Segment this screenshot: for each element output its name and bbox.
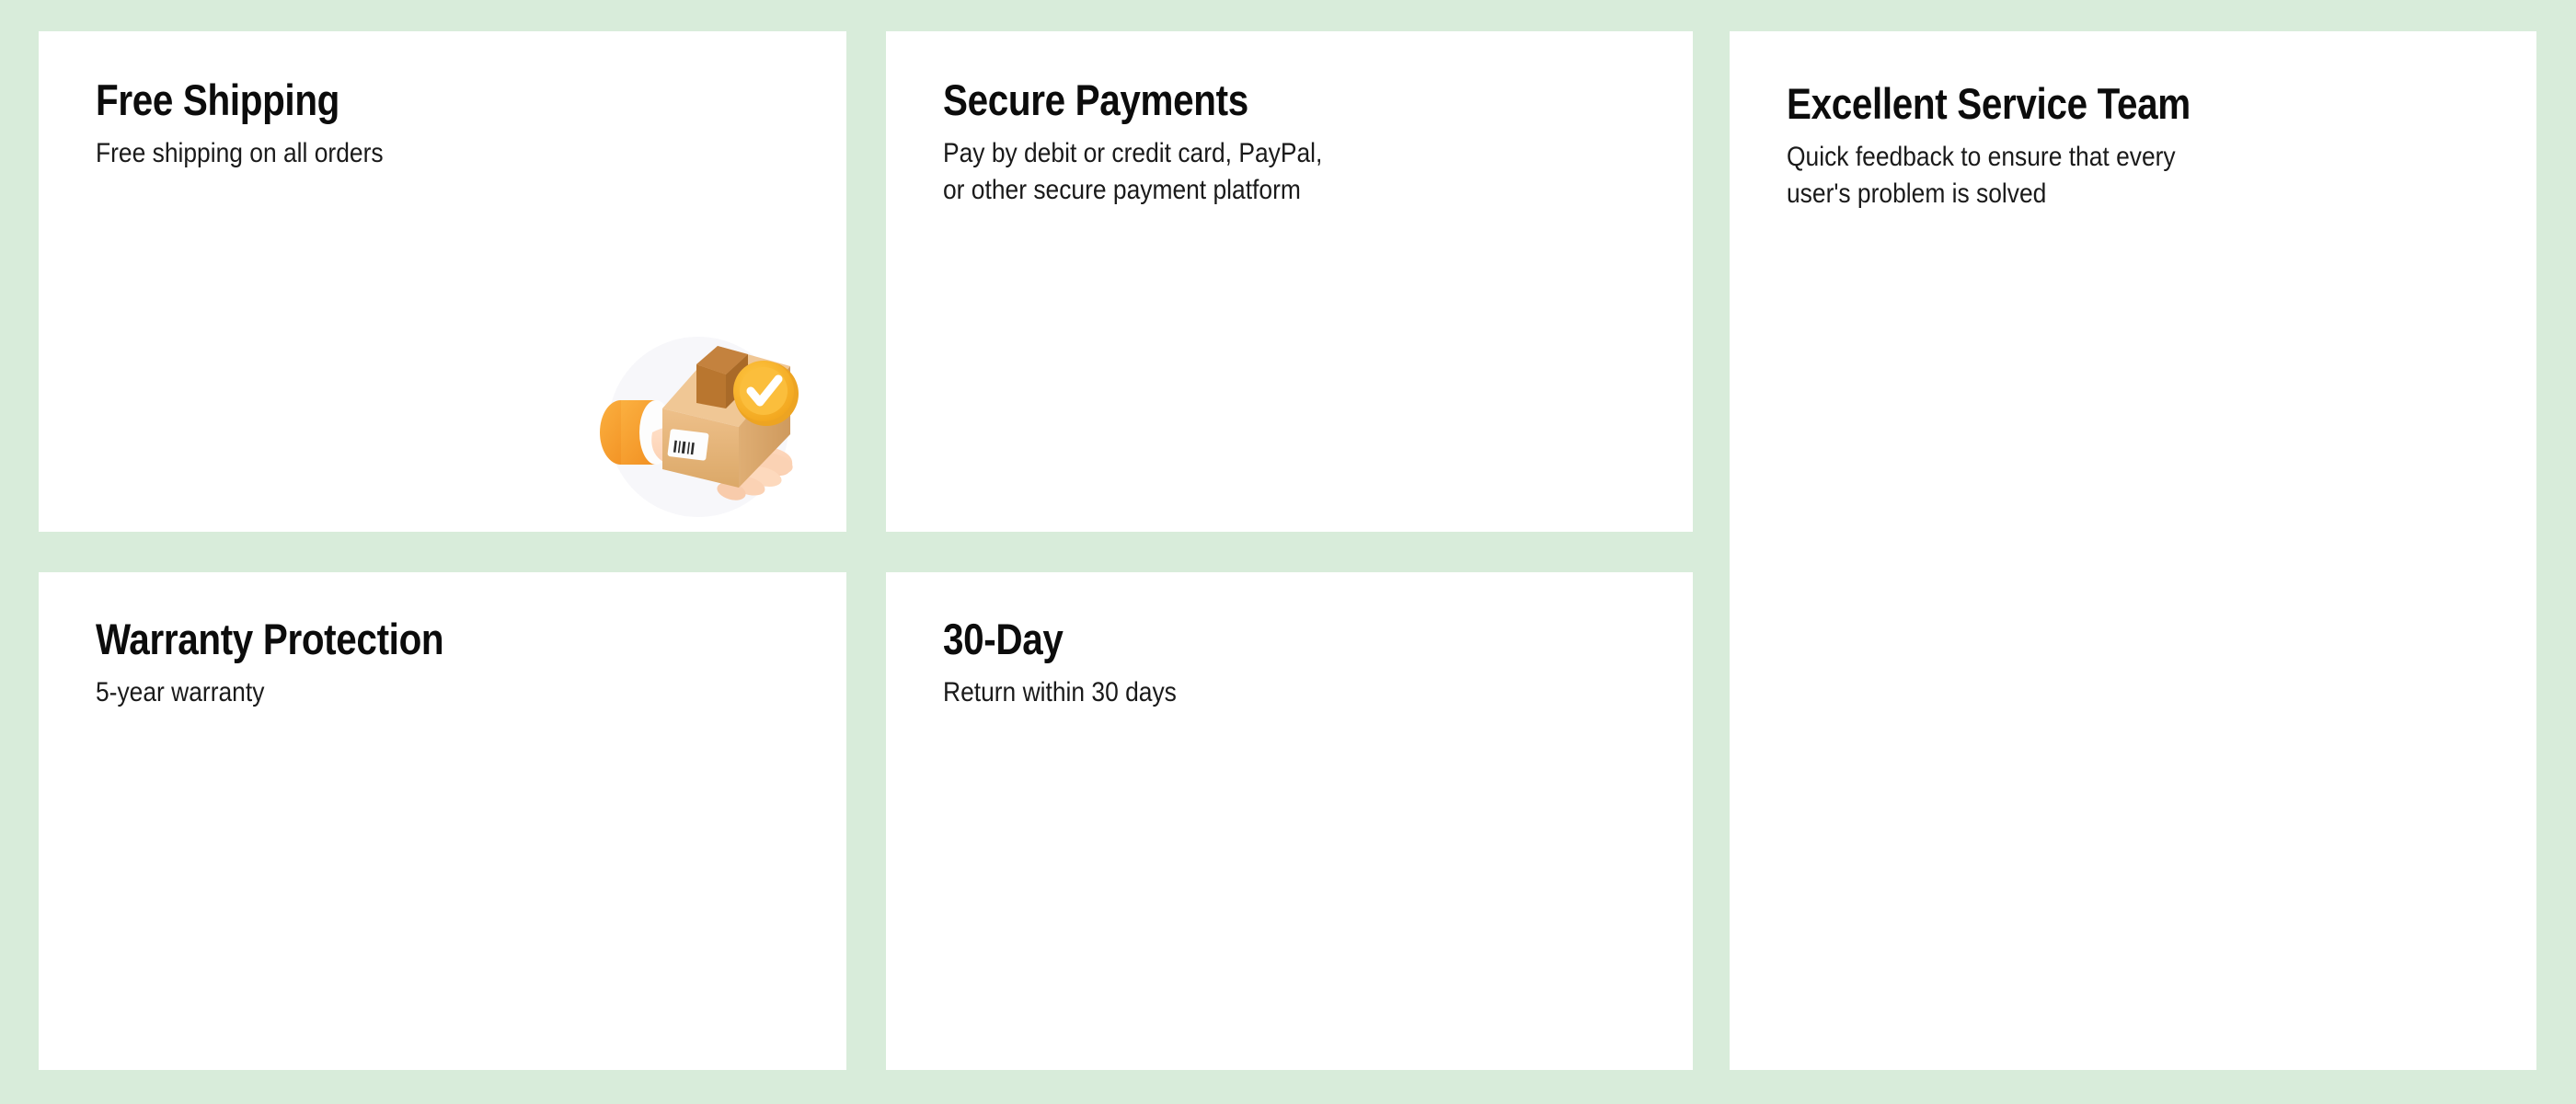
warranty-title: Warranty Protection <box>96 616 718 663</box>
features-board: Free Shipping Free shipping on all order… <box>0 0 2576 1104</box>
feature-card-warranty-protection[interactable]: Warranty Protection 5-year warranty <box>39 572 846 1070</box>
feature-card-secure-payments[interactable]: Secure Payments Pay by debit or credit c… <box>886 31 1693 532</box>
service-team-title: Excellent Service Team <box>1787 81 2408 128</box>
secure-payments-title: Secure Payments <box>943 77 1564 124</box>
package-in-hand-icon <box>568 324 830 532</box>
warranty-subtitle: 5-year warranty <box>96 674 732 711</box>
free-shipping-subtitle: Free shipping on all orders <box>96 135 732 172</box>
feature-card-thirty-day[interactable]: 30-Day Return within 30 days <box>886 572 1693 1070</box>
service-team-subtitle: Quick feedback to ensure that every user… <box>1787 139 2422 213</box>
secure-payments-subtitle: Pay by debit or credit card, PayPal, or … <box>943 135 1579 209</box>
feature-card-service-team[interactable]: Excellent Service Team Quick feedback to… <box>1730 31 2536 1070</box>
secure-payments-text-block: Secure Payments Pay by debit or credit c… <box>943 77 1665 209</box>
thirty-day-title: 30-Day <box>943 616 1564 663</box>
service-team-text-block: Excellent Service Team Quick feedback to… <box>1787 81 2509 213</box>
thirty-day-text-block: 30-Day Return within 30 days <box>943 616 1665 711</box>
free-shipping-title: Free Shipping <box>96 77 718 124</box>
free-shipping-text-block: Free Shipping Free shipping on all order… <box>96 77 819 172</box>
thirty-day-subtitle: Return within 30 days <box>943 674 1579 711</box>
feature-card-free-shipping[interactable]: Free Shipping Free shipping on all order… <box>39 31 846 532</box>
warranty-text-block: Warranty Protection 5-year warranty <box>96 616 819 711</box>
